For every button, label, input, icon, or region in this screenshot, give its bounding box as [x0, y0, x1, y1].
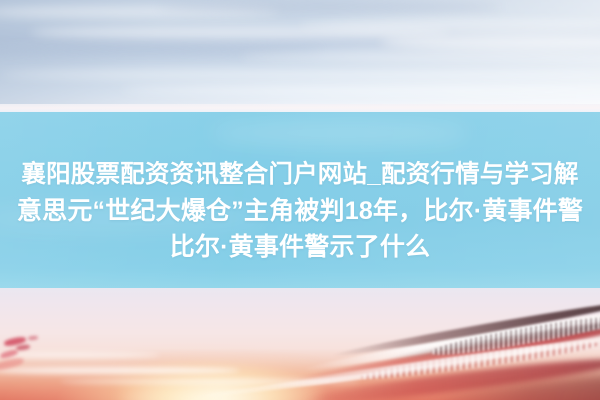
- cloud-streak-icon: [0, 46, 320, 55]
- cloud-streak-icon: [300, 20, 600, 31]
- sunset-photo-region: [0, 288, 600, 400]
- magenta-fleck: [0, 356, 25, 371]
- magenta-fleck: [16, 344, 31, 351]
- cloud-streak-icon: [120, 86, 600, 94]
- cloud-streak-icon: [360, 337, 599, 383]
- headline-text-block: 襄阳股票配资资讯整合门户网站_配资行情与学习解 意思元“世纪大爆仓”主角被判18…: [0, 112, 600, 290]
- cloud-streak-icon: [240, 52, 600, 62]
- cloud-streak-icon: [332, 297, 600, 360]
- cloud-streak-icon: [0, 70, 600, 79]
- magenta-fleck: [28, 335, 38, 340]
- sky-gradient-region: [0, 0, 600, 114]
- headline-line-3: 比尔·黄事件警示了什么: [170, 229, 431, 265]
- magenta-fleck: [4, 336, 27, 347]
- cloud-streak-icon: [430, 312, 600, 361]
- cloud-streak-icon: [291, 321, 600, 386]
- magenta-fleck: [0, 349, 18, 360]
- headline-line-1: 襄阳股票配资资讯整合门户网站_配资行情与学习解: [21, 157, 578, 193]
- cloud-streak-icon: [30, 26, 450, 39]
- sun-glow: [120, 362, 320, 400]
- cloud-streak-icon: [300, 352, 600, 400]
- headline-line-2: 意思元“世纪大爆仓”主角被判18年，比尔·黄事件警: [17, 193, 583, 229]
- cloud-streak-icon: [381, 316, 600, 365]
- news-banner-image: 襄阳股票配资资讯整合门户网站_配资行情与学习解 意思元“世纪大爆仓”主角被判18…: [0, 0, 600, 400]
- cloud-streak-icon: [429, 369, 600, 400]
- cloud-streak-icon: [302, 307, 600, 374]
- light-band: [0, 352, 160, 358]
- cloud-streak-icon: [380, 34, 600, 50]
- cloud-streak-icon: [0, 6, 280, 18]
- cloud-streak-icon: [160, 2, 500, 12]
